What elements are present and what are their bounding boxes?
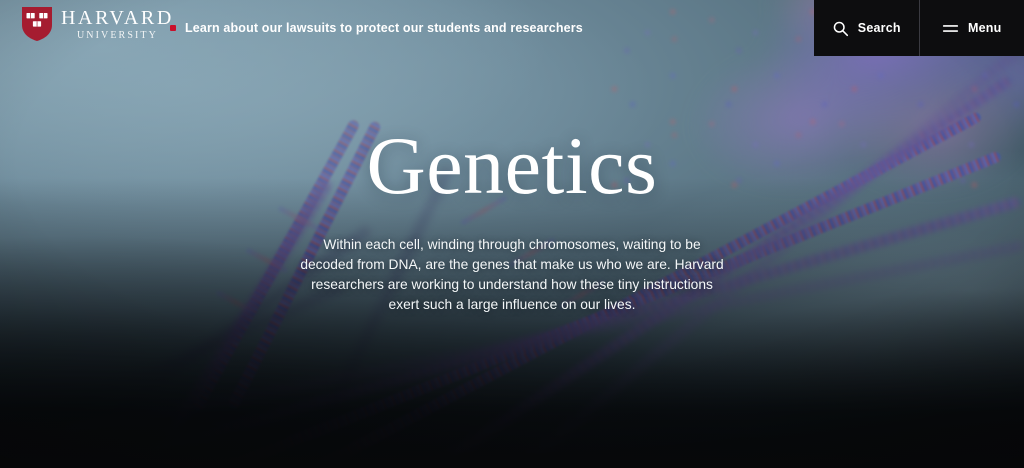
page-root: HARVARD UNIVERSITY Learn about our lawsu…: [0, 0, 1024, 468]
menu-button[interactable]: Menu: [920, 0, 1024, 56]
wordmark-line-university: UNIVERSITY: [77, 31, 158, 41]
hero-description: Within each cell, winding through chromo…: [300, 235, 724, 315]
wordmark-line-harvard: HARVARD: [61, 8, 174, 28]
hero-section: Genetics Within each cell, winding throu…: [0, 56, 1024, 468]
site-header: HARVARD UNIVERSITY Learn about our lawsu…: [0, 0, 1024, 56]
harvard-wordmark: HARVARD UNIVERSITY: [61, 8, 174, 41]
search-button[interactable]: Search: [814, 0, 919, 56]
search-icon: [832, 20, 849, 37]
harvard-logo-link[interactable]: HARVARD UNIVERSITY: [22, 7, 174, 41]
harvard-shield-icon: [22, 7, 52, 41]
hamburger-menu-icon: [942, 20, 959, 37]
search-button-label: Search: [858, 21, 901, 35]
alert-dot-icon: [170, 25, 176, 31]
alert-banner-text: Learn about our lawsuits to protect our …: [185, 21, 583, 35]
alert-banner-link[interactable]: Learn about our lawsuits to protect our …: [170, 21, 583, 35]
menu-button-label: Menu: [968, 21, 1001, 35]
page-title: Genetics: [367, 125, 658, 207]
header-nav-block: Search Menu: [814, 0, 1024, 56]
